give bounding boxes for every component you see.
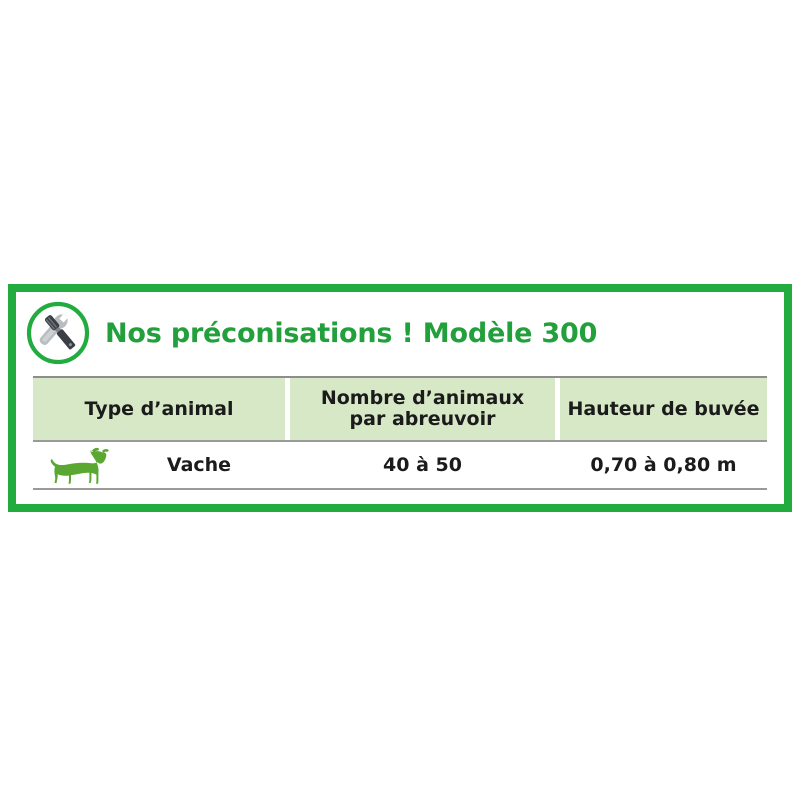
cell-number: 40 à 50 [290,442,555,488]
column-header-number-line1: Nombre d’animaux [321,387,524,409]
preconisations-table: Type d’animal Nombre d’animaux par abreu… [33,376,767,490]
card-title: Nos préconisations ! Modèle 300 [105,320,597,347]
column-header-animal-label: Type d’animal [84,399,233,420]
cell-animal-name: Vache [113,454,285,476]
column-header-number: Nombre d’animaux par abreuvoir [290,378,555,440]
column-header-height: Hauteur de buvée [560,378,767,440]
table-header-row: Type d’animal Nombre d’animaux par abreu… [33,378,767,440]
cell-height-value: 0,70 à 0,80 m [590,454,736,476]
cow-icon [37,444,113,486]
table-bottom-rule [33,488,767,490]
tools-wrench-screwdriver-icon [25,300,91,366]
table-row: Vache 40 à 50 0,70 à 0,80 m [33,442,767,488]
screenshot-canvas: Nos préconisations ! Modèle 300 Type d’a… [0,0,800,800]
column-header-number-line2: par abreuvoir [350,408,496,430]
column-header-height-label: Hauteur de buvée [567,399,759,420]
column-header-animal: Type d’animal [33,378,285,440]
preconisations-card: Nos préconisations ! Modèle 300 Type d’a… [8,284,792,512]
card-header: Nos préconisations ! Modèle 300 [16,292,784,374]
cell-animal: Vache [33,442,285,488]
column-header-number-label: Nombre d’animaux par abreuvoir [321,388,524,429]
cell-height: 0,70 à 0,80 m [560,442,767,488]
cell-number-value: 40 à 50 [383,454,462,476]
